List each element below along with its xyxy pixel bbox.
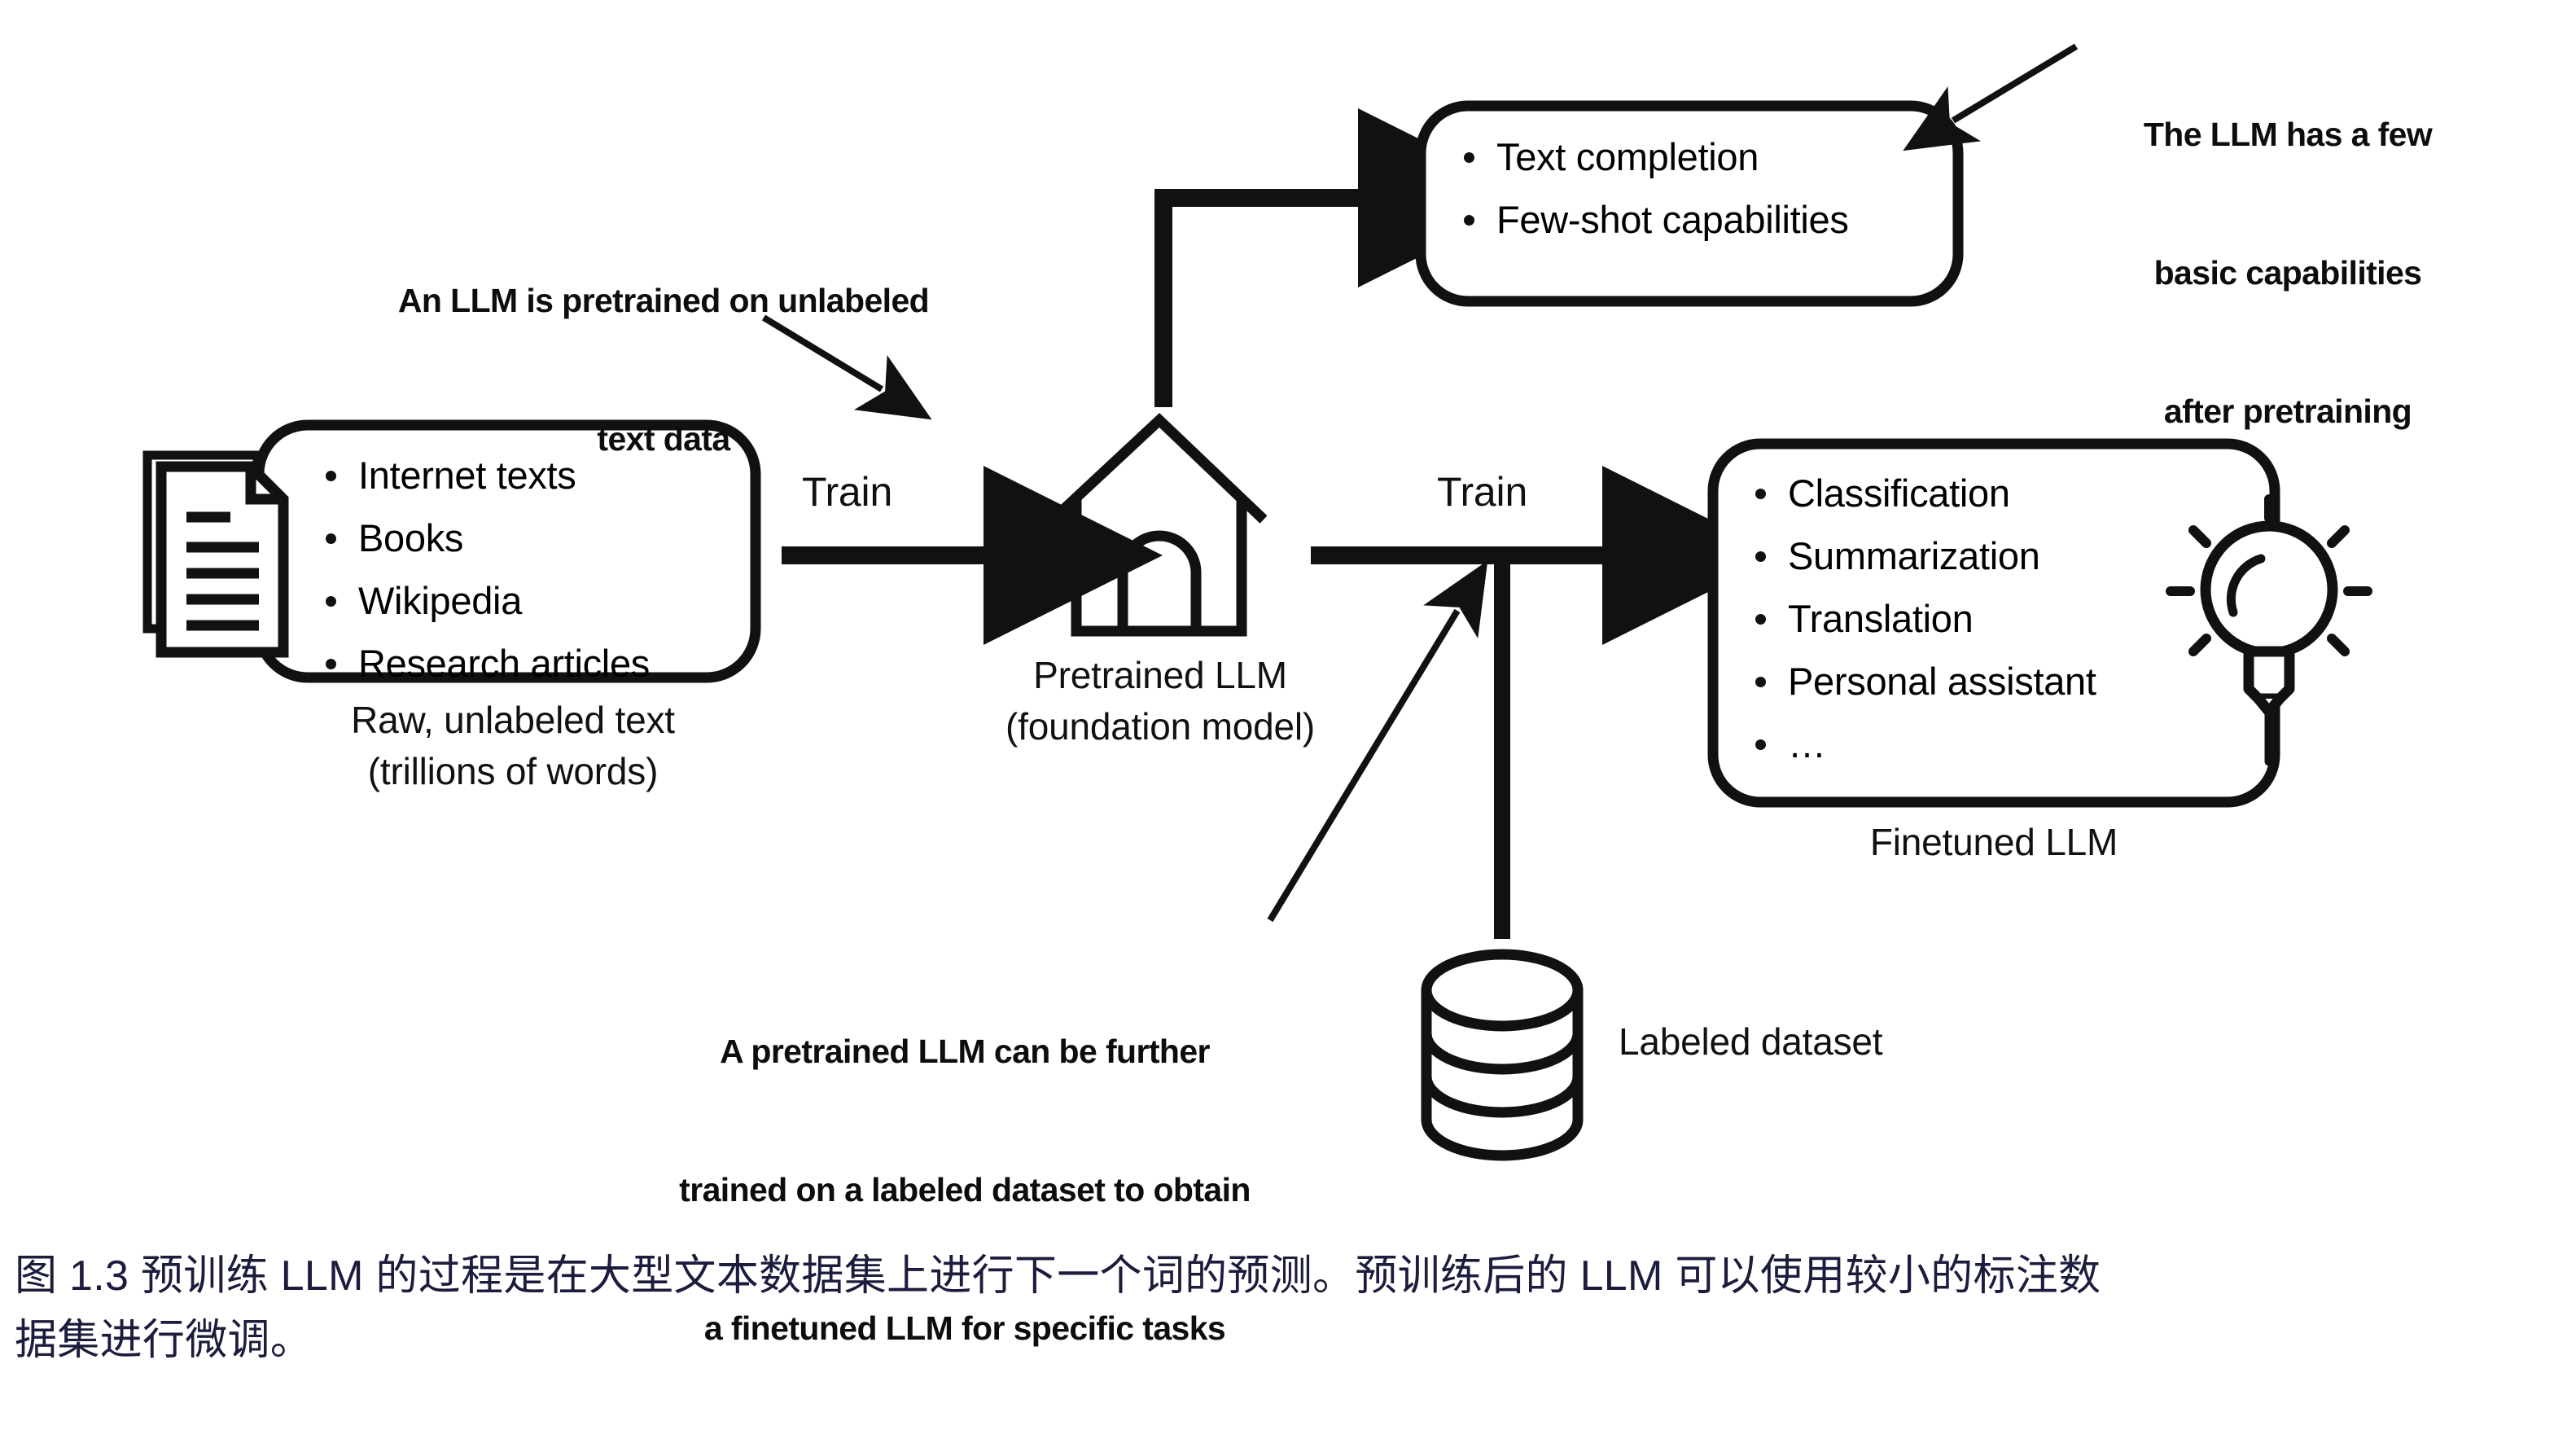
house-icon — [1053, 420, 1264, 631]
list-item: Wikipedia — [319, 578, 743, 623]
finetuning-note-line1: A pretrained LLM can be further — [627, 1029, 1303, 1075]
list-item: Classification — [1749, 471, 2254, 515]
capabilities-note-line1: The LLM has a few — [2092, 112, 2483, 158]
list-item: Translation — [1749, 596, 2254, 641]
list-item: … — [1749, 721, 2254, 766]
pretraining-note-line1: An LLM is pretrained on unlabeled — [342, 278, 985, 324]
pretraining-note: An LLM is pretrained on unlabeled text d… — [342, 186, 985, 555]
capabilities-note-arrow — [1953, 46, 2076, 121]
capabilities-note-line3: after pretraining — [2092, 388, 2483, 435]
pretraining-note-line2: text data — [342, 416, 985, 463]
capabilities-list: Text completion Few-shot capabilities — [1457, 134, 1930, 242]
list-item: Text completion — [1457, 134, 1930, 179]
finetuned-llm-label: Finetuned LLM — [1713, 818, 2275, 866]
raw-data-label-line2: (trillions of words) — [269, 748, 757, 796]
pretrained-llm-label-line2: (foundation model) — [920, 703, 1400, 751]
list-item: Research articles — [319, 641, 743, 686]
list-item: Personal assistant — [1749, 659, 2254, 704]
train-label-2: Train — [1437, 466, 1527, 518]
pretrained-llm-label-line1: Pretrained LLM — [920, 651, 1400, 700]
capabilities-note: The LLM has a few basic capabilities aft… — [2092, 20, 2483, 526]
figure-caption-line1: 图 1.3 预训练 LLM 的过程是在大型文本数据集上进行下一个词的预测。预训练… — [15, 1244, 2563, 1309]
figure-diagram: Internet texts Books Wikipedia Research … — [0, 0, 2576, 1404]
finetuning-note-line2: trained on a labeled dataset to obtain — [627, 1167, 1303, 1213]
figure-caption: 图 1.3 预训练 LLM 的过程是在大型文本数据集上进行下一个词的预测。预训练… — [15, 1244, 2563, 1373]
figure-caption-line2: 据集进行微调。 — [15, 1309, 2563, 1373]
capabilities-note-line2: basic capabilities — [2092, 250, 2483, 296]
document-stack-icon — [147, 455, 283, 652]
raw-data-label-line1: Raw, unlabeled text — [269, 696, 757, 744]
labeled-dataset-label: Labeled dataset — [1619, 1018, 1882, 1066]
capabilities-elbow-arrow — [1163, 198, 1376, 407]
list-item: Summarization — [1749, 533, 2254, 578]
list-item: Few-shot capabilities — [1457, 197, 1930, 242]
database-cylinder-icon — [1426, 954, 1578, 1156]
finetuned-list: Classification Summarization Translation… — [1749, 471, 2254, 766]
